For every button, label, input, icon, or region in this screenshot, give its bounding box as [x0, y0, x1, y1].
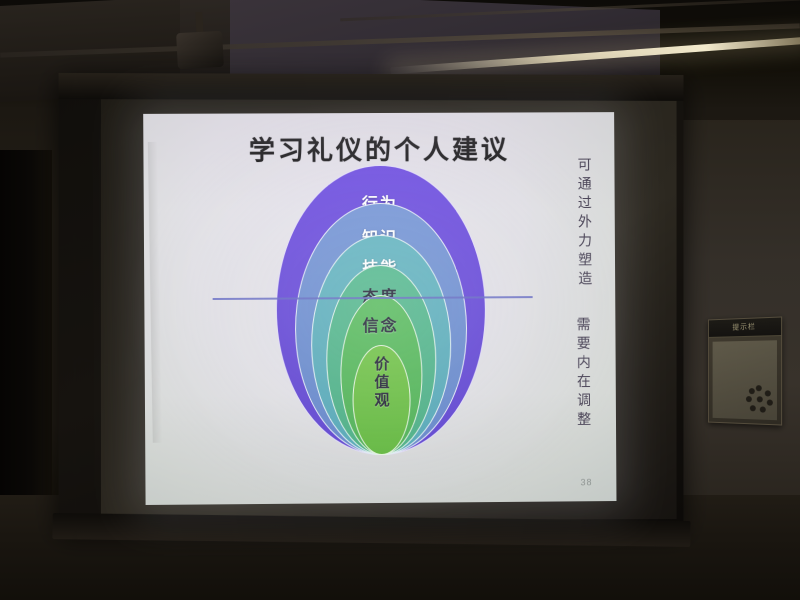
annotation-external-shaping: 可通过外力塑造 [575, 157, 596, 290]
wall-notice-board: 提示栏 [708, 316, 782, 425]
screen-top-bar [59, 73, 684, 101]
slide-title: 学习礼仪的个人建议 [143, 129, 614, 168]
annotation-internal-adjustment: 需要内在调整 [574, 317, 595, 431]
notice-board-dots [746, 385, 774, 414]
ring-label-6: 价值观 [370, 356, 392, 454]
notice-board-header: 提示栏 [709, 318, 781, 338]
projector-icon [176, 31, 224, 69]
ring-layer-6: 价值观 [352, 345, 411, 455]
notice-board-title: 提示栏 [709, 318, 781, 337]
projected-slide: 学习礼仪的个人建议 行为 知识 技能 态度 信念 价值观 [143, 112, 616, 505]
classroom-photo-scene: 提示栏 学习礼仪的个人建议 行为 知识 [0, 0, 800, 600]
nested-ellipse-diagram: 行为 知识 技能 态度 信念 价值观 [144, 164, 617, 487]
